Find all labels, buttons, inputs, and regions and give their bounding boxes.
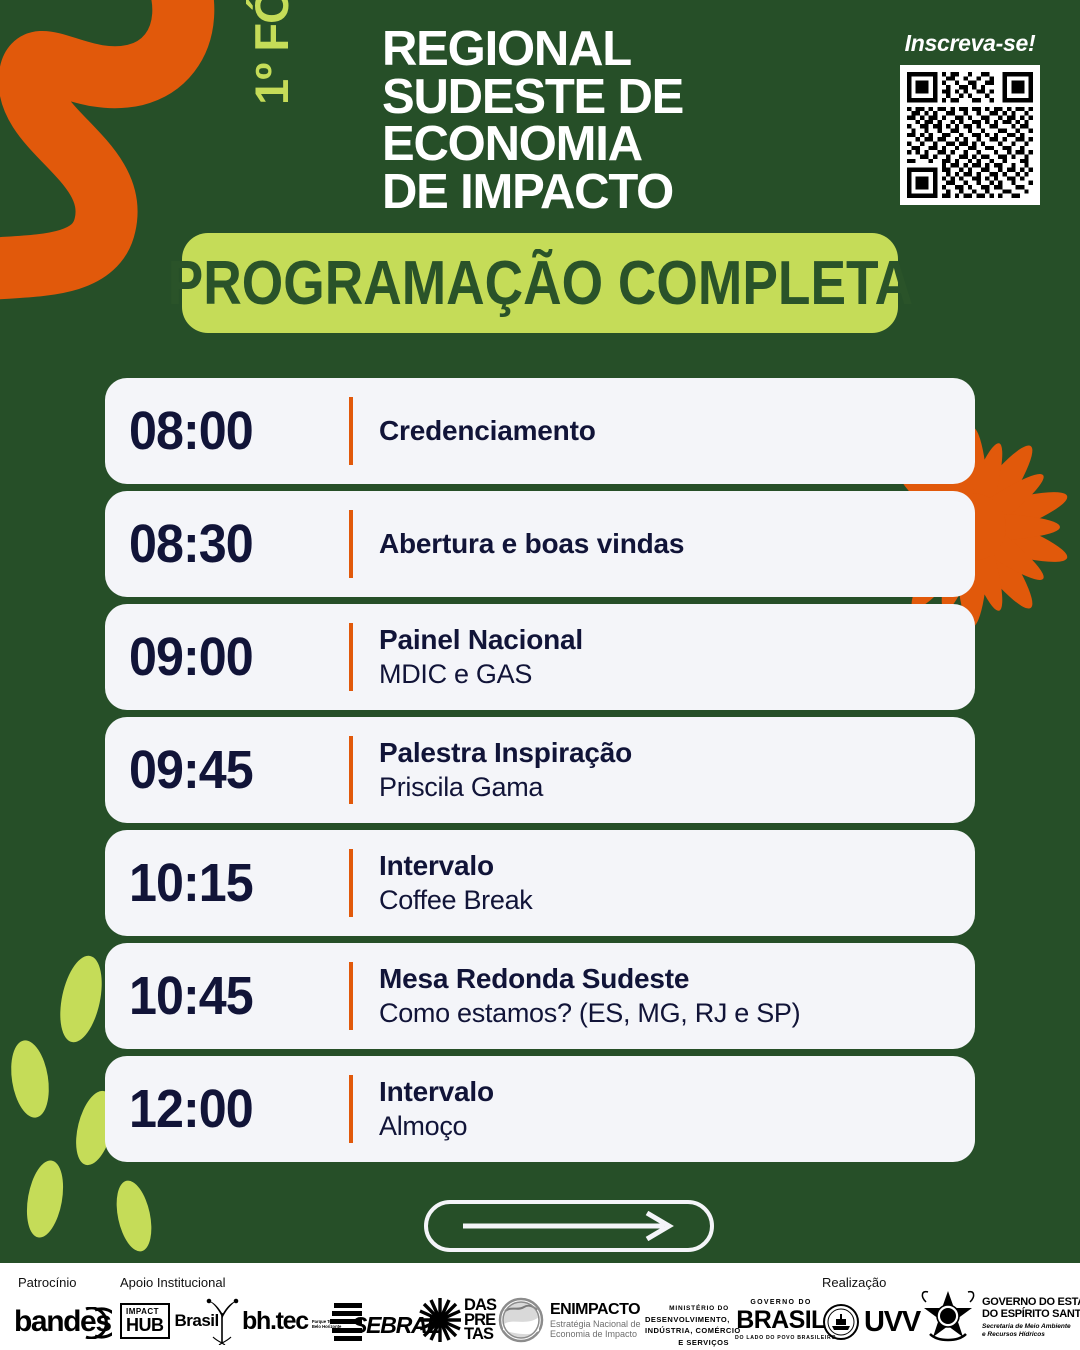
logo-ministerio-line2: DESENVOLVIMENTO, bbox=[645, 1314, 729, 1325]
logo-enimpacto-sub2: Economia de Impacto bbox=[550, 1329, 641, 1339]
schedule-row[interactable]: 09:45 Palestra Inspiração Priscila Gama bbox=[105, 717, 975, 823]
schedule-time: 10:15 bbox=[129, 852, 334, 914]
schedule-row[interactable]: 12:00 Intervalo Almoço bbox=[105, 1056, 975, 1162]
footer-logos-bar: Patrocínio Apoio Institucional Realizaçã… bbox=[0, 1263, 1080, 1350]
forum-edition-label: 1º FÓRUM bbox=[248, 0, 295, 105]
logo-es-sub1: Secretaria de Meio Ambiente bbox=[982, 1323, 1080, 1331]
schedule-row[interactable]: 08:30 Abertura e boas vindas bbox=[105, 491, 975, 597]
lime-pill-decoration bbox=[6, 1038, 54, 1121]
title-line-2: SUDESTE DE bbox=[382, 74, 683, 122]
banner-title: PROGRAMAÇÃO COMPLETA bbox=[167, 248, 912, 319]
arrow-right-icon bbox=[459, 1211, 679, 1241]
logo-uvv: UVV bbox=[822, 1303, 920, 1341]
qr-label: Inscreva-se! bbox=[895, 30, 1045, 57]
schedule-row[interactable]: 08:00 Credenciamento bbox=[105, 378, 975, 484]
schedule-time: 09:45 bbox=[129, 739, 334, 801]
schedule-title: Painel Nacional bbox=[379, 624, 583, 656]
logo-bhtec-text: bh.tec bbox=[242, 1309, 308, 1334]
logo-governo-brasil-text: BRASIL bbox=[735, 1306, 827, 1335]
schedule-title: Palestra Inspiração bbox=[379, 737, 632, 769]
logo-enimpacto-sub1: Estratégia Nacional de bbox=[550, 1319, 641, 1329]
logo-governo-sub: DO LADO DO POVO BRASILEIRO bbox=[735, 1335, 827, 1341]
realization-label: Realização bbox=[822, 1275, 886, 1290]
schedule-title: Intervalo bbox=[379, 1076, 494, 1108]
title-line-1: REGIONAL bbox=[382, 26, 683, 74]
lime-pill-decoration bbox=[21, 1158, 68, 1241]
logo-es-line2: DO ESPÍRITO SANTO bbox=[982, 1308, 1080, 1321]
registration-qr-block[interactable]: Inscreva-se! bbox=[895, 30, 1045, 205]
logo-enimpacto: ENIMPACTO Estratégia Nacional de Economi… bbox=[498, 1297, 641, 1343]
logo-es-line1: GOVERNO DO ESTADO bbox=[982, 1296, 1080, 1309]
logo-enimpacto-text: ENIMPACTO bbox=[550, 1301, 641, 1319]
schedule-subtitle: Coffee Break bbox=[379, 884, 533, 916]
schedule-time: 08:30 bbox=[129, 513, 334, 575]
schedule-time: 09:00 bbox=[129, 626, 334, 688]
row-divider bbox=[349, 849, 353, 917]
logo-ministerio-line3: INDÚSTRIA, COMÉRCIO bbox=[645, 1325, 729, 1336]
lime-pill-decoration bbox=[111, 1177, 157, 1254]
logo-uvv-text: UVV bbox=[864, 1308, 920, 1337]
schedule-title: Intervalo bbox=[379, 850, 533, 882]
institutional-support-label: Apoio Institucional bbox=[120, 1275, 226, 1290]
schedule-time: 12:00 bbox=[129, 1078, 334, 1140]
schedule-subtitle: Priscila Gama bbox=[379, 771, 632, 803]
schedule-subtitle: Como estamos? (ES, MG, RJ e SP) bbox=[379, 997, 800, 1029]
poster-header: 1º FÓRUM REGIONAL SUDESTE DE ECONOMIA DE… bbox=[0, 0, 1080, 225]
programacao-completa-banner: PROGRAMAÇÃO COMPLETA bbox=[182, 233, 898, 333]
schedule-time: 08:00 bbox=[129, 400, 334, 462]
row-divider bbox=[349, 736, 353, 804]
row-divider bbox=[349, 1075, 353, 1143]
qr-code-icon[interactable] bbox=[900, 65, 1040, 205]
logo-impact-hub: IMPACT HUB Brasil bbox=[120, 1303, 219, 1339]
logo-bandes: bandes bbox=[14, 1305, 110, 1339]
schedule-title: Abertura e boas vindas bbox=[379, 528, 684, 560]
row-divider bbox=[349, 623, 353, 691]
logo-ministerio: MINISTÉRIO DO DESENVOLVIMENTO, INDÚSTRIA… bbox=[645, 1303, 729, 1348]
logo-ministerio-line1: MINISTÉRIO DO bbox=[645, 1303, 729, 1314]
schedule-subtitle: Almoço bbox=[379, 1110, 494, 1142]
schedule-title: Credenciamento bbox=[379, 415, 596, 447]
logo-es-sub2: e Recursos Hídricos bbox=[982, 1331, 1080, 1339]
schedule-row[interactable]: 10:45 Mesa Redonda Sudeste Como estamos?… bbox=[105, 943, 975, 1049]
title-line-3: ECONOMIA bbox=[382, 121, 683, 169]
logo-governo-espirito-santo: GOVERNO DO ESTADO DO ESPÍRITO SANTO Secr… bbox=[920, 1289, 1080, 1345]
logo-das-pretas-line3: TAS bbox=[464, 1327, 496, 1342]
sponsorship-label: Patrocínio bbox=[18, 1275, 77, 1290]
schedule-title: Mesa Redonda Sudeste bbox=[379, 963, 800, 995]
logo-ministerio-line4: E SERVIÇOS bbox=[645, 1337, 729, 1348]
row-divider bbox=[349, 510, 353, 578]
logo-impact-hub-line2: HUB bbox=[126, 1316, 164, 1334]
logo-governo-top: GOVERNO DO bbox=[735, 1299, 827, 1306]
schedule-subtitle: MDIC e GAS bbox=[379, 658, 583, 690]
row-divider bbox=[349, 397, 353, 465]
logo-governo-brasil: GOVERNO DO BRASIL DO LADO DO POVO BRASIL… bbox=[735, 1299, 827, 1341]
logo-das-pretas: DAS PRE TAS bbox=[418, 1295, 496, 1345]
lime-pill-decoration bbox=[53, 952, 108, 1046]
schedule-time: 10:45 bbox=[129, 965, 334, 1027]
schedule-row[interactable]: 10:15 Intervalo Coffee Break bbox=[105, 830, 975, 936]
row-divider bbox=[349, 962, 353, 1030]
next-slide-button[interactable] bbox=[424, 1200, 714, 1252]
title-line-4: DE IMPACTO bbox=[382, 169, 683, 217]
schedule-list: 08:00 Credenciamento 08:30 Abertura e bo… bbox=[105, 378, 975, 1169]
page-title: REGIONAL SUDESTE DE ECONOMIA DE IMPACTO bbox=[382, 26, 683, 216]
schedule-row[interactable]: 09:00 Painel Nacional MDIC e GAS bbox=[105, 604, 975, 710]
logo-sebrae: SEBRAE bbox=[330, 1301, 420, 1343]
